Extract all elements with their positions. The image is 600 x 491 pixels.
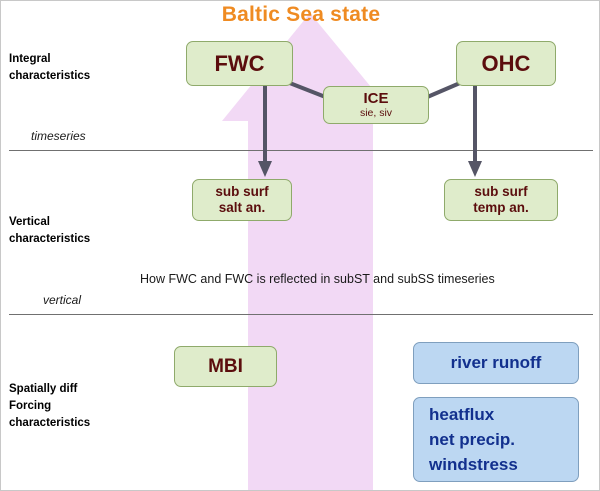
- row-label-integral-line1: Integral: [9, 51, 90, 68]
- box-sub-temp-line2: temp an.: [473, 200, 529, 216]
- box-ohc[interactable]: OHC: [456, 41, 556, 86]
- box-forcing-components[interactable]: heatflux net precip. windstress: [413, 397, 579, 482]
- box-sub-surf-salt-anomaly[interactable]: sub surf salt an.: [192, 179, 292, 221]
- box-ice-title: ICE: [363, 90, 388, 107]
- box-mbi-title: MBI: [208, 356, 243, 378]
- row-label-integral-line2: characteristics: [9, 68, 90, 85]
- divider-caption-vertical: vertical: [43, 293, 81, 307]
- row-label-vertical: Vertical characteristics: [9, 214, 90, 248]
- box-mbi[interactable]: MBI: [174, 346, 277, 387]
- box-sub-salt-line1: sub surf: [215, 184, 268, 200]
- box-ice[interactable]: ICE sie, siv: [323, 86, 429, 124]
- row-label-integral: Integral characteristics: [9, 51, 90, 85]
- divider-vertical: [9, 314, 593, 315]
- row-label-vertical-line1: Vertical: [9, 214, 90, 231]
- box-forcing-line3: windstress: [414, 452, 578, 477]
- box-river-runoff[interactable]: river runoff: [413, 342, 579, 384]
- row-label-forcing-line2: Forcing: [9, 398, 90, 415]
- box-forcing-line2: net precip.: [414, 427, 578, 452]
- note-text: How FWC and FWC is reflected in subST an…: [140, 272, 495, 286]
- divider-timeseries: [9, 150, 593, 151]
- row-label-forcing-line3: characteristics: [9, 415, 90, 432]
- box-fwc[interactable]: FWC: [186, 41, 293, 86]
- box-fwc-title: FWC: [214, 52, 264, 76]
- box-ice-subtitle: sie, siv: [360, 107, 392, 120]
- page-title: Baltic Sea state: [1, 3, 600, 27]
- box-forcing-line1: heatflux: [414, 402, 578, 427]
- box-sub-salt-line2: salt an.: [219, 200, 266, 216]
- row-label-vertical-line2: characteristics: [9, 231, 90, 248]
- divider-caption-timeseries: timeseries: [31, 129, 86, 143]
- box-sub-surf-temp-anomaly[interactable]: sub surf temp an.: [444, 179, 558, 221]
- box-river-runoff-title: river runoff: [451, 352, 542, 374]
- diagram-canvas: Baltic Sea state Integral characteristic…: [0, 0, 600, 491]
- row-label-forcing: Spatially diff Forcing characteristics: [9, 381, 90, 432]
- row-label-forcing-line1: Spatially diff: [9, 381, 90, 398]
- box-sub-temp-line1: sub surf: [474, 184, 527, 200]
- box-ohc-title: OHC: [482, 52, 531, 76]
